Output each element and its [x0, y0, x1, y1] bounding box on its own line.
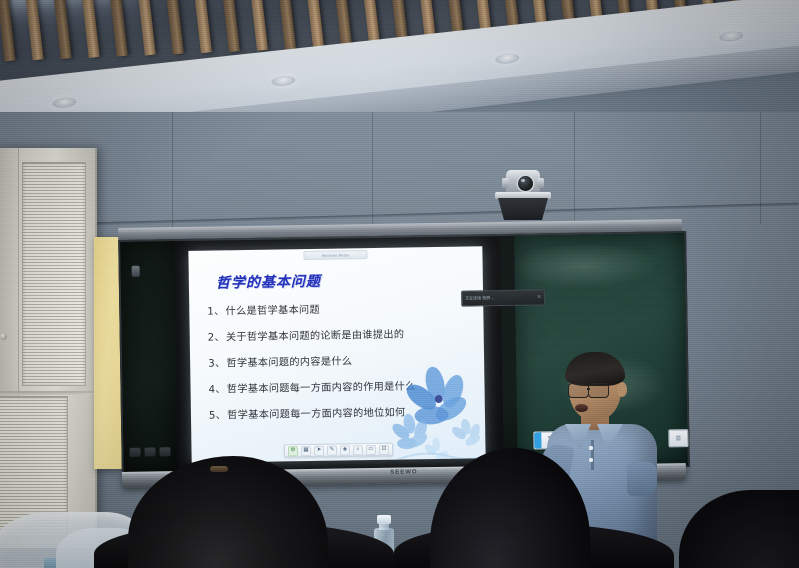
recessed-downlight: [495, 52, 520, 65]
cursor-icon[interactable]: ➤: [314, 445, 324, 455]
cabinet-knob[interactable]: [0, 333, 7, 340]
wood-slat-baffle: [101, 0, 128, 57]
slide-line-number: 5、: [209, 410, 226, 421]
slide-line: 5、哲学基本问题每一方面内容的地位如何: [209, 402, 479, 421]
board-brand-label: SEEWO: [390, 469, 417, 475]
cabinet-divider: [0, 391, 95, 395]
pen-icon[interactable]: ✎: [327, 445, 337, 455]
wood-slat-baffle: [268, 0, 296, 50]
ptz-conference-camera: [492, 168, 554, 222]
recessed-downlight: [271, 75, 296, 88]
presenter-ear: [617, 382, 627, 397]
wood-slat-baffle: [18, 0, 44, 60]
classroom-photo: Windows Media 哲学的基本问题 1、什么是哲学基本问题 2、关于哲学…: [0, 0, 799, 568]
menu-icon: ☰: [676, 435, 681, 442]
slide-line-number: 3、: [208, 358, 225, 369]
recessed-downlight: [719, 30, 744, 43]
popup-text: 正在连接 投屏…: [465, 295, 494, 301]
slide-title: 哲学的基本问题: [216, 271, 321, 293]
slide-line-text: 什么是哲学基本问题: [226, 305, 321, 317]
wood-slat-baffle: [324, 0, 352, 47]
zoom-icon[interactable]: ⌕: [353, 445, 363, 455]
glasses-icon: [588, 383, 609, 398]
bottle-cap: [377, 515, 391, 524]
screenshot-icon[interactable]: ⊡: [379, 444, 389, 454]
wood-slat-baffle: [296, 0, 324, 49]
audience-hair: [128, 456, 328, 568]
grid-icon[interactable]: ▦: [301, 445, 311, 455]
slide-line: 1、什么是哲学基本问题: [207, 298, 477, 317]
slide-line-text: 哲学基本问题每一方面内容的作用是什么: [227, 381, 416, 395]
chalkboard-glare: [508, 242, 659, 290]
screen-notification-popup[interactable]: 正在连接 投屏… ✕: [461, 289, 545, 306]
louvered-utility-cabinet[interactable]: [0, 148, 97, 548]
recessed-downlight: [52, 96, 77, 109]
wood-slat-baffle: [0, 0, 16, 62]
slide-line-text: 哲学基本问题每一方面内容的地位如何: [227, 408, 405, 422]
wall-seam: [760, 112, 761, 224]
slide-line: 4、哲学基本问题每一方面内容的作用是什么: [208, 376, 478, 395]
slide-line: 2、关于哲学基本问题的论断是由谁提出的: [208, 324, 478, 343]
rectangle-icon[interactable]: ▭: [366, 444, 376, 454]
presentation-slide[interactable]: Windows Media 哲学的基本问题 1、什么是哲学基本问题 2、关于哲学…: [188, 246, 485, 463]
wood-slat-baffle: [129, 0, 156, 56]
slide-line-text: 哲学基本问题的内容是什么: [226, 356, 352, 369]
audience-back-of-head: [128, 456, 328, 568]
camera-wall-bracket: [498, 198, 548, 220]
slide-line: 3、哲学基本问题的内容是什么: [208, 350, 478, 369]
audience-hair: [430, 448, 590, 568]
slide-line-text: 关于哲学基本问题的论断是由谁提出的: [226, 330, 404, 344]
slide-topbar-label: Windows Media: [303, 250, 367, 260]
wood-slat-baffle: [73, 0, 99, 58]
camera-side-panel: [537, 178, 544, 188]
glasses-bridge: [587, 388, 590, 390]
audience-with-face-mask: [420, 448, 620, 568]
presenter-mouth: [575, 404, 588, 412]
camera-mount-plate: [495, 192, 551, 199]
wood-slat-baffle: [212, 0, 239, 52]
slide-bullet-list: 1、什么是哲学基本问题 2、关于哲学基本问题的论断是由谁提出的 3、哲学基本问题…: [207, 298, 479, 432]
wood-slat-baffle: [157, 0, 184, 54]
wood-slat-baffle: [185, 0, 212, 53]
slide-line-number: 2、: [208, 332, 225, 343]
camera-lens-icon: [518, 176, 533, 191]
camera-side-panel: [502, 178, 509, 188]
hair-clip: [210, 466, 228, 472]
glasses-icon: [568, 383, 589, 398]
board-menu-button[interactable]: [159, 447, 170, 456]
camera-head: [506, 170, 540, 194]
slide-line-number: 4、: [208, 384, 225, 395]
wood-slat-baffle: [46, 0, 72, 59]
wall-seam: [574, 112, 575, 230]
wood-slat-baffle: [240, 0, 268, 51]
close-icon[interactable]: ✕: [537, 294, 541, 300]
presenter-sleeve: [627, 462, 657, 496]
shape-icon[interactable]: ◈: [340, 445, 350, 455]
chalkboard-left-wing: [120, 241, 178, 474]
cabinet-louver-vent: [22, 162, 86, 386]
settings-icon[interactable]: ⚙: [288, 446, 298, 456]
ir-sensor-icon: [132, 266, 140, 277]
slide-line-number: 1、: [207, 306, 224, 317]
presenter-hair: [565, 352, 625, 386]
